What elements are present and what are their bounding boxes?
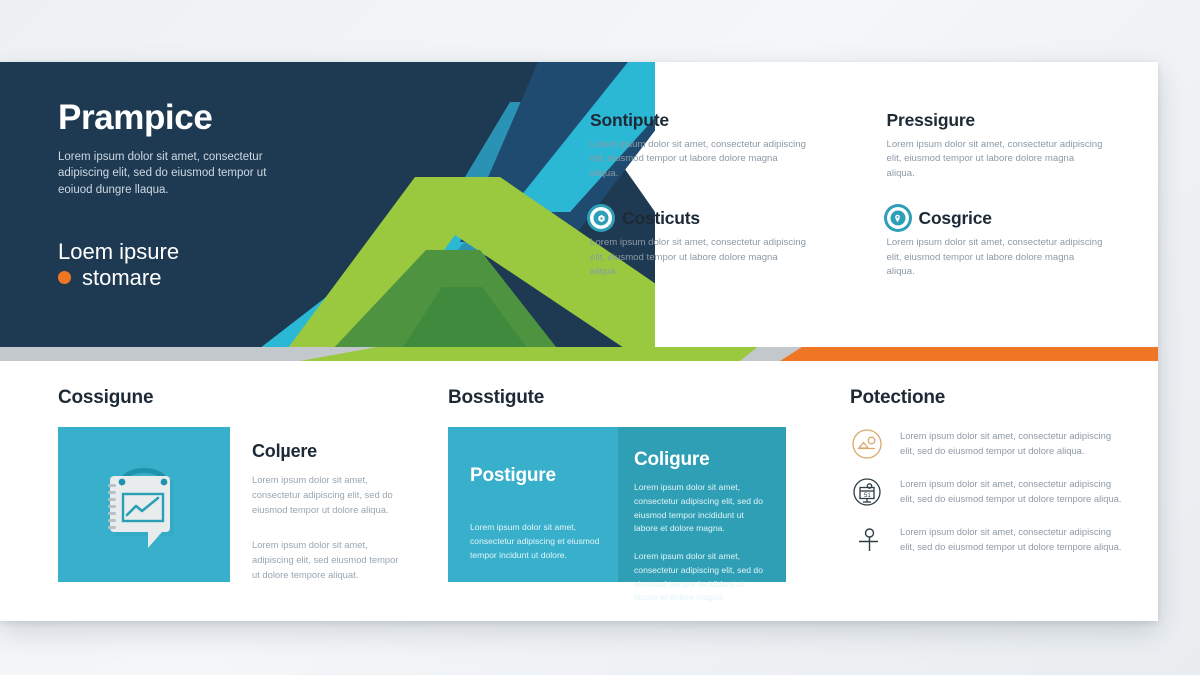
feature-title: Pressigure	[887, 110, 975, 131]
panel-cossigune: Cossigune	[58, 387, 408, 582]
feature-body: Lorem ipsum dolor sit amet, consectetur …	[887, 138, 1105, 181]
divider-orange-bar	[780, 347, 1158, 361]
feature-header: Cosgrice	[887, 207, 1136, 229]
feature-body: Lorem ipsum dolor sit amet, consectetur …	[590, 236, 808, 279]
feature-body: Lorem ipsum dolor sit amet, consectetur …	[590, 138, 808, 181]
presentation-slide: Prampice Lorem ipsum dolor sit amet, con…	[0, 62, 1158, 621]
hero-callout-row: stomare	[58, 265, 358, 290]
bullet-dot-icon	[58, 271, 71, 284]
list-item: Lorem ipsum dolor sit amet, consectetur …	[850, 427, 1140, 461]
panel-text: Colµere Lorem ipsum dolor sit amet, cons…	[252, 427, 407, 582]
split-card: Postigure Lorem ipsum dolor sit amet, co…	[448, 427, 786, 582]
feature-title: Costicuts	[622, 208, 700, 229]
calendar-circle-icon: 51	[850, 475, 884, 509]
panel-potectione: Potectione Lorem ipsum dolor sit amet, c…	[850, 387, 1140, 571]
split-right-paragraph-1: Lorem ipsum dolor sit amet, consectetur …	[634, 481, 768, 536]
coin-ring-icon	[887, 207, 909, 229]
hero-left-content: Prampice Lorem ipsum dolor sit amet, con…	[58, 100, 358, 290]
panel-subtitle: Colµere	[252, 441, 407, 462]
panel-paragraph-2: Lorem ipsum dolor sit amet, adipiscing e…	[252, 537, 407, 582]
feature-title: Sontipute	[590, 110, 669, 131]
section-divider	[0, 347, 1158, 367]
split-left-paragraph: Lorem ipsum dolor sit amet, consectetur …	[470, 521, 600, 562]
feature-cosgrice: Cosgrice Lorem ipsum dolor sit amet, con…	[887, 207, 1136, 279]
hero-callout-line-1: Loem ipsure	[58, 239, 358, 264]
notebook-chart-icon-tile	[58, 427, 230, 582]
slide-canvas: Prampice Lorem ipsum dolor sit amet, con…	[0, 0, 1200, 675]
hero-column-1: Sontipute Lorem ipsum dolor sit amet, co…	[590, 110, 839, 305]
panel-title: Cossigune	[58, 387, 408, 409]
split-card-left: Postigure Lorem ipsum dolor sit amet, co…	[448, 427, 618, 582]
split-card-right: Coligure Lorem ipsum dolor sit amet, con…	[618, 427, 786, 582]
list-item-text: Lorem ipsum dolor sit amet, consectetur …	[900, 427, 1128, 458]
panel-title: Bosstigute	[448, 387, 788, 409]
target-ring-icon	[590, 207, 612, 229]
hero-callout-line-2: stomare	[82, 265, 161, 290]
hero-callout: Loem ipsure stomare	[58, 239, 358, 291]
panel-bosstigute: Bosstigute Postigure Lorem ipsum dolor s…	[448, 387, 788, 582]
hero-section: Prampice Lorem ipsum dolor sit amet, con…	[0, 62, 1158, 347]
feature-header: Sontipute	[590, 110, 839, 131]
list-item: 51 Lorem ipsum dolor sit amet, consectet…	[850, 475, 1140, 509]
hero-column-2: Pressigure Lorem ipsum dolor sit amet, c…	[887, 110, 1136, 305]
split-right-paragraph-2: Lorem ipsum dolor sit amet, consectetur …	[634, 550, 768, 605]
list-item: Lorem ipsum dolor sit amet, consectetur …	[850, 523, 1140, 557]
feature-body: Lorem ipsum dolor sit amet, consectetur …	[887, 236, 1105, 279]
feature-costicuts: Costicuts Lorem ipsum dolor sit amet, co…	[590, 207, 839, 279]
hero-feature-columns: Sontipute Lorem ipsum dolor sit amet, co…	[590, 110, 1135, 305]
divider-green-cap	[300, 347, 770, 361]
feature-header: Costicuts	[590, 207, 839, 229]
list-item-text: Lorem ipsum dolor sit amet, consectetur …	[900, 475, 1128, 506]
lower-section: Cossigune	[0, 367, 1158, 621]
feature-header: Pressigure	[887, 110, 1136, 131]
hero-title: Prampice	[58, 100, 358, 137]
feature-title: Cosgrice	[919, 208, 992, 229]
svg-text:51: 51	[864, 493, 871, 499]
panel-title: Potectione	[850, 387, 1140, 409]
split-right-title: Coligure	[634, 449, 768, 471]
hero-subtitle: Lorem ipsum dolor sit amet, consectetur …	[58, 149, 290, 199]
pin-cross-icon	[850, 523, 884, 557]
notebook-chart-icon	[92, 450, 196, 560]
panel-body: Colµere Lorem ipsum dolor sit amet, cons…	[58, 427, 408, 582]
feature-pressigure: Pressigure Lorem ipsum dolor sit amet, c…	[887, 110, 1136, 181]
feature-sontipute: Sontipute Lorem ipsum dolor sit amet, co…	[590, 110, 839, 181]
split-left-title: Postigure	[470, 465, 600, 487]
landscape-circle-icon	[850, 427, 884, 461]
list-item-text: Lorem ipsum dolor sit amet, consectetur …	[900, 523, 1128, 554]
panel-paragraph-1: Lorem ipsum dolor sit amet, consectetur …	[252, 472, 407, 517]
